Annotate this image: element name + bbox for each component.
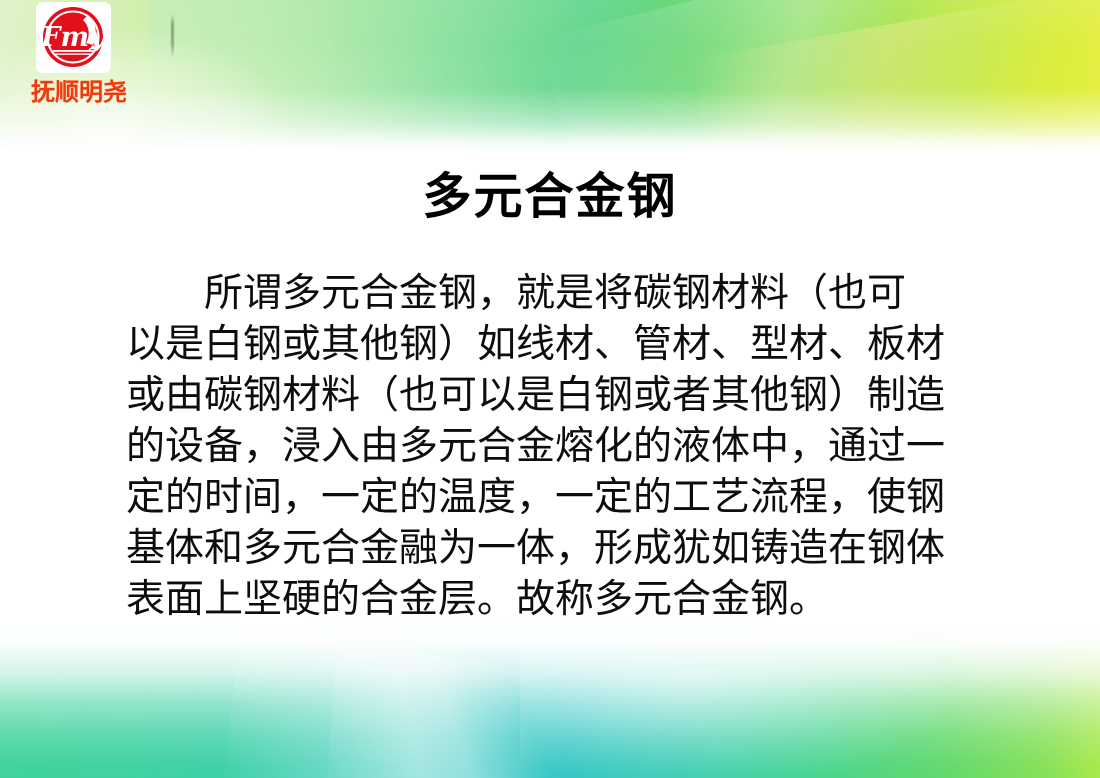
- body-line: 基体和多元合金融为一体，形成犹如铸造在钢体: [126, 523, 1022, 574]
- body-line: 或由碳钢材料（也可以是白钢或者其他钢）制造: [126, 370, 1022, 421]
- body-line: 所谓多元合金钢，就是将碳钢材料（也可: [126, 268, 1022, 319]
- slide-content: 多元合金钢 所谓多元合金钢，就是将碳钢材料（也可 以是白钢或其他钢）如线材、管材…: [0, 0, 1100, 778]
- company-name-label: 抚顺明尧: [14, 80, 144, 104]
- body-line: 的设备，浸入由多元合金熔化的液体中，通过一: [126, 421, 1022, 472]
- body-line: 以是白钢或其他钢）如线材、管材、型材、板材: [126, 319, 1022, 370]
- body-line: 定的时间，一定的温度，一定的工艺流程，使钢: [126, 472, 1022, 523]
- svg-text:Fmy: Fmy: [40, 22, 107, 53]
- slide-title: 多元合金钢: [0, 166, 1100, 228]
- body-line: 表面上坚硬的合金层。故称多元合金钢。: [126, 574, 1022, 625]
- slide-body: 所谓多元合金钢，就是将碳钢材料（也可 以是白钢或其他钢）如线材、管材、型材、板材…: [126, 268, 1022, 625]
- presentation-slide: Fmy 抚顺明尧 多元合金钢 所谓多元合金钢，就是将碳钢材料（也可 以是白钢或其…: [0, 0, 1100, 778]
- fmy-logo-icon: Fmy: [36, 2, 111, 73]
- company-logo: Fmy 抚顺明尧: [14, 2, 144, 104]
